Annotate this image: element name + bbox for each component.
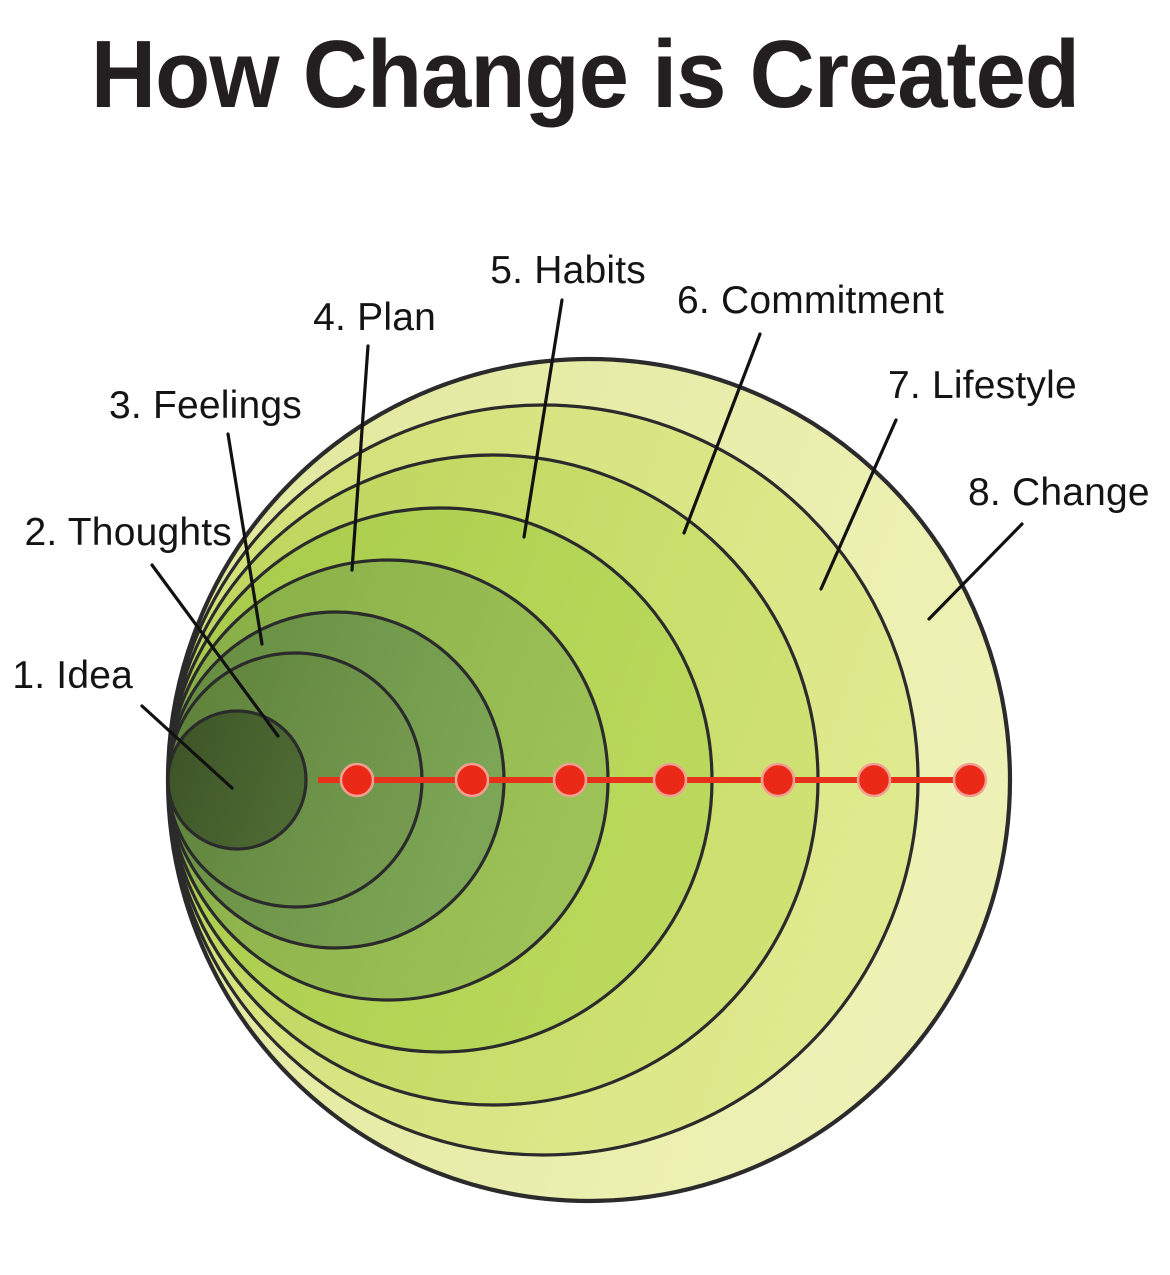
diagram-canvas: How Change is Created <box>0 0 1170 1275</box>
ring-label-2-thoughts: 2. Thoughts <box>25 511 232 554</box>
progress-dot-4[interactable] <box>654 764 686 796</box>
progress-dot-7[interactable] <box>954 764 986 796</box>
ring-label-3-feelings: 3. Feelings <box>109 384 302 427</box>
ring-label-8-change: 8. Change <box>968 471 1150 514</box>
ring-label-5-habits: 5. Habits <box>490 249 646 292</box>
ring-label-4-plan: 4. Plan <box>313 296 436 339</box>
progress-dot-2[interactable] <box>456 764 488 796</box>
progress-dot-6[interactable] <box>858 764 890 796</box>
ring-label-7-lifestyle: 7. Lifestyle <box>888 364 1077 407</box>
progress-dot-5[interactable] <box>762 764 794 796</box>
ring-label-6-commitment: 6. Commitment <box>677 279 944 322</box>
progress-dot-1[interactable] <box>341 764 373 796</box>
ring-1-idea[interactable] <box>168 711 306 849</box>
change-circles-diagram: 1. Idea 2. Thoughts 3. Feelings 4. Plan … <box>0 0 1170 1275</box>
progress-dot-3[interactable] <box>554 764 586 796</box>
ring-label-1-idea: 1. Idea <box>12 654 133 697</box>
